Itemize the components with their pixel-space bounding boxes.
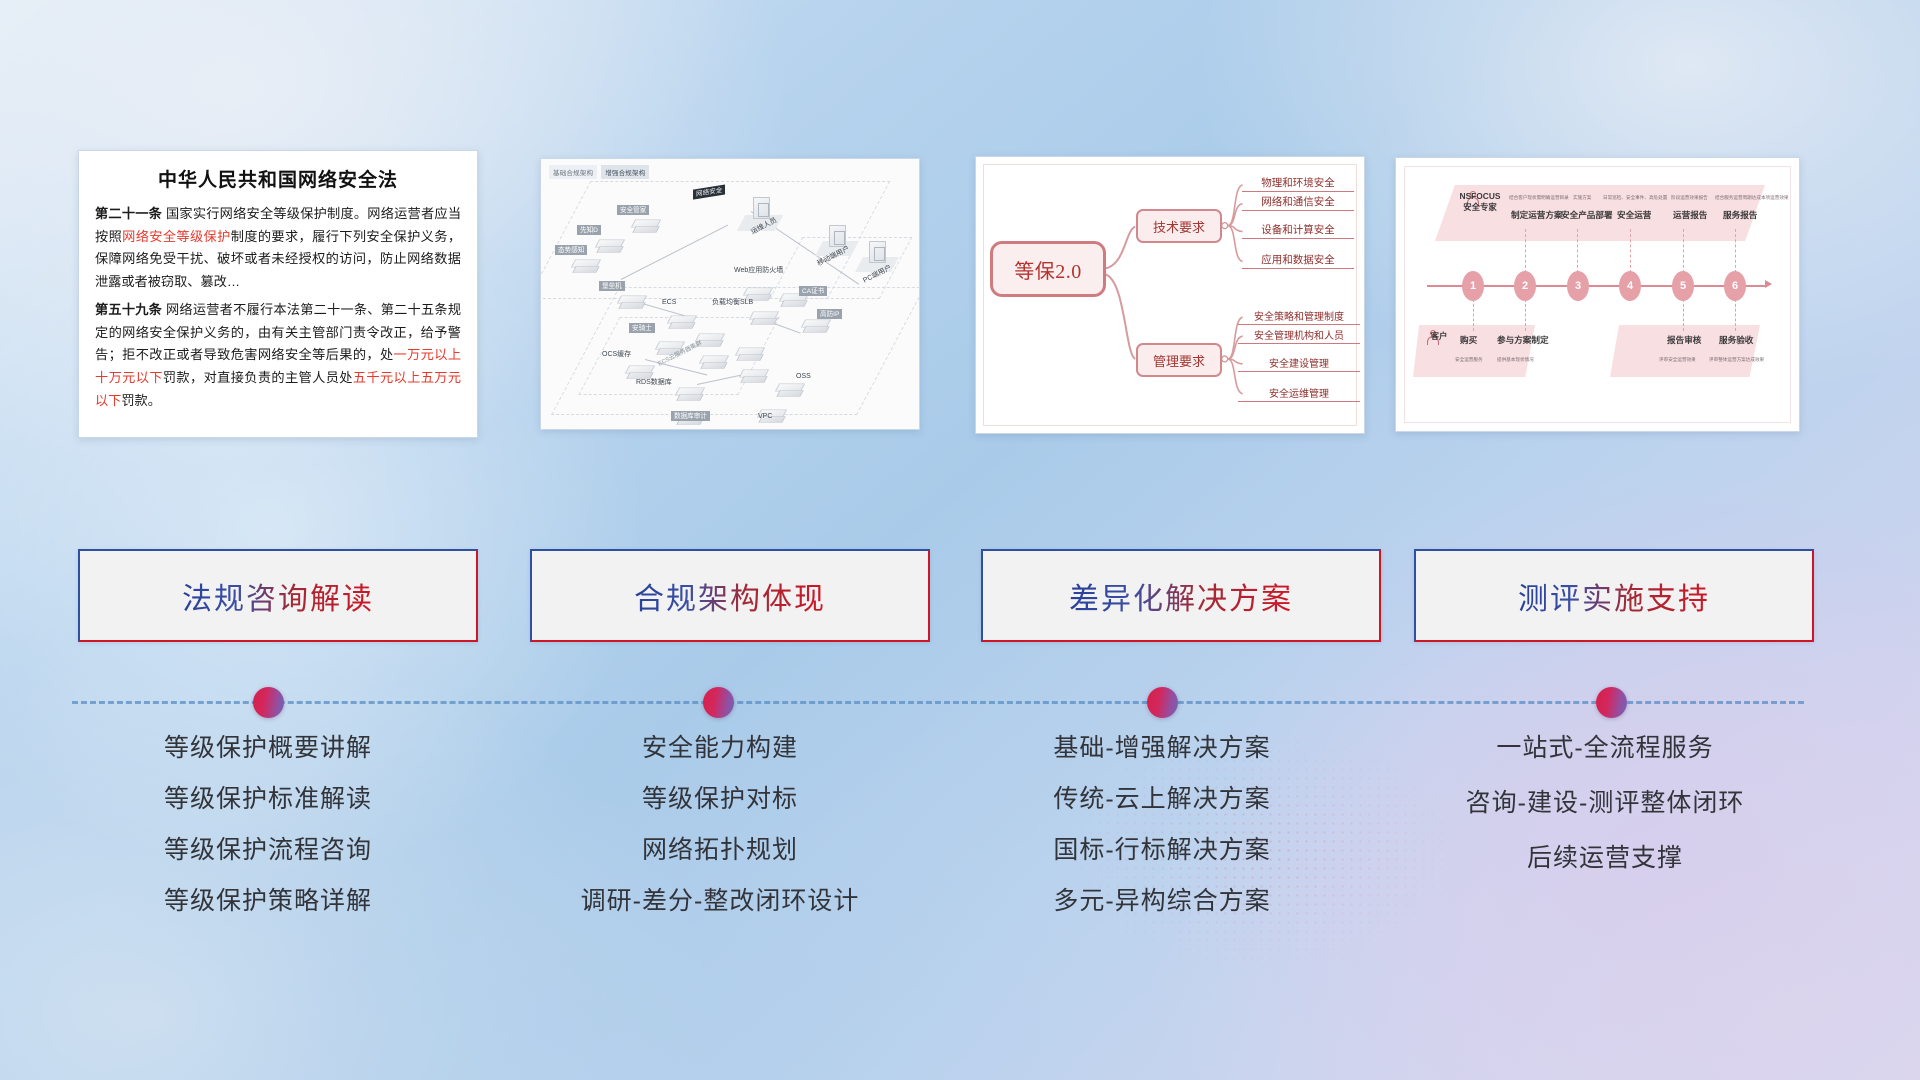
device-slb	[751, 309, 777, 327]
label-anti-ddos-ip: 高防IP	[817, 309, 842, 319]
card-mindmap-dengbao[interactable]: 等保2.0 技术要求 管理要求 物理和环境安全 网络和通信安全 设备和计算安全 …	[975, 156, 1365, 434]
list-item: 咨询-建设-测评整体闭环	[1395, 791, 1815, 816]
bottom-step-6-sub: 评审整体运营方案达成效果	[1709, 357, 1764, 363]
bullet-column-2: 安全能力构建 等级保护对标 网络拓扑规划 调研-差分-整改闭环设计	[510, 736, 930, 940]
law-paragraph-article-21: 第二十一条 国家实行网络安全等级保护制度。网络运营者应当按照网络安全等级保护制度…	[95, 203, 461, 294]
label-vpc: VPC	[755, 411, 775, 422]
architecture-tabs[interactable]: 基础合规架构 增强合规架构	[549, 165, 649, 179]
mindmap-leaf-device-compute[interactable]: 设备和计算安全	[1242, 222, 1354, 239]
device-situational-awareness	[573, 257, 599, 275]
list-item: 国标-行标解决方案	[952, 838, 1372, 863]
bottom-step-1-sub: 安全运营服务	[1455, 357, 1483, 363]
timeline-dashed-line	[72, 701, 1804, 704]
list-item: 一站式-全流程服务	[1395, 736, 1815, 761]
device-anti-ddos-ip	[803, 317, 829, 335]
label-box-3-text: 差异化解决方案	[1069, 574, 1293, 618]
connector-step-2-bottom	[1525, 299, 1526, 331]
card-nsfocus-service-timeline[interactable]: NSFOCUS 安全专家 结合客户现状需明确运营目录 制定运营方案 实施方案 安…	[1395, 157, 1800, 432]
mindmap-leaf-security-policy[interactable]: 安全策略和管理制度	[1238, 308, 1360, 325]
timeline-step-dot-6[interactable]: 6	[1724, 271, 1746, 301]
label-db-audit: 数据库审计	[671, 411, 710, 421]
list-item: 等级保护策略详解	[58, 889, 478, 914]
label-security-steward: 安全管家	[617, 205, 649, 215]
card-cybersecurity-law[interactable]: 中华人民共和国网络安全法 第二十一条 国家实行网络安全等级保护制度。网络运营者应…	[78, 150, 478, 438]
connector-step-5-bottom	[1683, 299, 1684, 331]
card-row: 中华人民共和国网络安全法 第二十一条 国家实行网络安全等级保护制度。网络运营者应…	[0, 150, 1920, 440]
top-step-3-sub: 实施方案	[1573, 195, 1591, 201]
mindmap-leaf-physical-env[interactable]: 物理和环境安全	[1242, 175, 1354, 192]
timeline-dot-1[interactable]	[253, 687, 284, 718]
list-item: 调研-差分-整改闭环设计	[510, 889, 930, 914]
label-box-4-text: 测评实施支持	[1518, 574, 1710, 618]
label-situational-awareness: 态势感知	[555, 245, 587, 255]
timeline-step-dot-2[interactable]: 2	[1514, 271, 1536, 301]
list-item: 等级保护对标	[510, 787, 930, 812]
law-card-title: 中华人民共和国网络安全法	[95, 165, 461, 192]
label-box-evaluation-support[interactable]: 测评实施支持	[1414, 549, 1814, 642]
label-ocs-cache: OCS缓存	[599, 349, 634, 360]
mindmap-leaf-security-ops[interactable]: 安全运维管理	[1238, 385, 1360, 402]
list-item: 网络拓扑规划	[510, 838, 930, 863]
bottom-step-2-sub: 提供基本现状情况	[1497, 357, 1534, 363]
connector-step-5-top	[1683, 229, 1684, 273]
list-item: 传统-云上解决方案	[952, 787, 1372, 812]
top-step-4-sub: 日常巡检、安全事件、高危处置	[1603, 195, 1667, 201]
tab-basic-compliance[interactable]: 基础合规架构	[549, 165, 597, 179]
icon-mobile-device	[829, 225, 846, 247]
list-item: 安全能力构建	[510, 736, 930, 761]
label-row: 法规咨询解读 合规架构体现 差异化解决方案 测评实施支持	[0, 549, 1920, 649]
nsfocus-brand-line1: NSFOCUS	[1460, 191, 1501, 201]
device-bastion-host	[619, 293, 645, 311]
timeline-step-dot-5[interactable]: 5	[1672, 271, 1694, 301]
label-ecs: ECS	[659, 297, 679, 308]
article-59-seg-4: 罚款。	[121, 393, 161, 408]
device-ecs-5	[741, 367, 767, 385]
connector-step-1-bottom	[1473, 299, 1474, 331]
label-oss: OSS	[793, 371, 814, 382]
top-step-2-title: 制定运营方案	[1511, 209, 1563, 221]
mindmap-leaf-security-build[interactable]: 安全建设管理	[1238, 355, 1360, 372]
article-59-seg-2: 罚款，对直接负责的主管人员处	[163, 370, 353, 385]
timeline-dot-4[interactable]	[1596, 687, 1627, 718]
top-step-6-sub: 结合服务运营周期达成本项运营效果	[1715, 195, 1789, 201]
label-anqishi: 安骑士	[629, 323, 655, 333]
device-oss	[777, 381, 803, 399]
timeline-step-dot-4[interactable]: 4	[1619, 271, 1641, 301]
mindmap-leaf-app-data[interactable]: 应用和数据安全	[1242, 252, 1354, 269]
law-paragraph-article-59: 第五十九条 网络运营者不履行本法第二十一条、第二十五条规定的网络安全保护义务的，…	[95, 299, 461, 413]
mindmap-root-node[interactable]: 等保2.0	[990, 241, 1106, 297]
mindmap-branch-technical[interactable]: 技术要求	[1136, 209, 1222, 243]
list-item: 多元-异构综合方案	[952, 889, 1372, 914]
bottom-step-6-title: 服务验收	[1719, 334, 1753, 346]
bottom-step-1-title: 购买	[1460, 334, 1477, 346]
card-compliance-architecture[interactable]: 基础合规架构 增强合规架构	[540, 158, 920, 430]
customer-label: 客户	[1421, 330, 1457, 342]
article-number-21: 第二十一条	[95, 206, 162, 221]
nsfocus-brand-line2: 安全专家	[1463, 202, 1497, 212]
label-waf: Web应用防火墙	[731, 265, 786, 276]
list-item: 等级保护概要讲解	[58, 736, 478, 761]
label-slb: 负载均衡SLB	[709, 297, 756, 308]
timeline-step-dot-1[interactable]: 1	[1462, 271, 1484, 301]
label-box-1-text: 法规咨询解读	[182, 574, 374, 618]
top-step-3-title: 安全产品部署	[1561, 209, 1613, 221]
mindmap-branch-management[interactable]: 管理要求	[1136, 343, 1222, 377]
label-ca-cert: CA证书	[799, 286, 827, 296]
connector-step-6-bottom	[1735, 299, 1736, 331]
label-xianzhi: 先知D	[577, 225, 601, 235]
article-number-59: 第五十九条	[95, 302, 162, 317]
nsfocus-brand-label: NSFOCUS 安全专家	[1451, 191, 1509, 212]
connector-step-6-top	[1735, 229, 1736, 273]
nsfocus-frame: NSFOCUS 安全专家 结合客户现状需明确运营目录 制定运营方案 实施方案 安…	[1404, 166, 1791, 423]
timeline-arrow-icon	[1765, 280, 1772, 288]
top-step-6-title: 服务报告	[1723, 209, 1757, 221]
label-box-2-text: 合规架构体现	[634, 574, 826, 618]
bullet-column-1: 等级保护概要讲解 等级保护标准解读 等级保护流程咨询 等级保护策略详解	[58, 736, 478, 940]
mindmap-leaf-network-comm[interactable]: 网络和通信安全	[1242, 194, 1354, 211]
device-ecs-4	[737, 345, 763, 363]
bottom-step-5-sub: 评审安全运营效果	[1659, 357, 1696, 363]
list-item: 等级保护流程咨询	[58, 838, 478, 863]
label-box-compliance-architecture[interactable]: 合规架构体现	[530, 549, 930, 642]
timeline-connector	[0, 681, 1920, 723]
device-rds	[677, 385, 703, 403]
tab-enhanced-compliance[interactable]: 增强合规架构	[601, 165, 649, 179]
top-step-5-title: 运营报告	[1673, 209, 1707, 221]
architecture-canvas: 网络安全 安全管家 先知D 态势感知 堡垒机 运维人员 移动端用户 PC端用户 …	[541, 159, 919, 429]
label-box-differentiated-solution[interactable]: 差异化解决方案	[981, 549, 1381, 642]
bullet-columns: 等级保护概要讲解 等级保护标准解读 等级保护流程咨询 等级保护策略详解 安全能力…	[0, 736, 1920, 976]
list-item: 基础-增强解决方案	[952, 736, 1372, 761]
label-box-regulation-consulting[interactable]: 法规咨询解读	[78, 549, 478, 642]
mindmap-leaf-security-org[interactable]: 安全管理机构和人员	[1238, 327, 1360, 344]
timeline-dot-2[interactable]	[703, 687, 734, 718]
timeline-dot-3[interactable]	[1147, 687, 1178, 718]
timeline-step-dot-3[interactable]: 3	[1567, 271, 1589, 301]
article-21-seg-1-highlight: 网络安全等级保护	[122, 229, 231, 244]
list-item: 等级保护标准解读	[58, 787, 478, 812]
connector-step-4-top	[1630, 229, 1631, 273]
label-rds: RDS数据库	[633, 377, 675, 388]
top-step-2-sub: 结合客户现状需明确运营目录	[1509, 195, 1569, 201]
list-item: 后续运营支撑	[1395, 846, 1815, 871]
nsfocus-customer-band-right	[1610, 325, 1760, 377]
device-ecs-3	[701, 353, 727, 371]
bullet-column-3: 基础-增强解决方案 传统-云上解决方案 国标-行标解决方案 多元-异构综合方案	[952, 736, 1372, 940]
device-ecs	[669, 313, 695, 331]
bottom-step-5-title: 报告审核	[1667, 334, 1701, 346]
bottom-step-2-title: 参与方案制定	[1497, 334, 1549, 346]
connector-step-3-top	[1577, 229, 1578, 273]
connector-step-2-top	[1525, 229, 1526, 273]
bullet-column-4: 一站式-全流程服务 咨询-建设-测评整体闭环 后续运营支撑	[1395, 736, 1815, 901]
icon-pc-device	[869, 241, 886, 263]
device-security-steward	[633, 217, 659, 235]
label-bastion-host: 堡垒机	[599, 281, 625, 291]
device-xianzhi	[597, 237, 623, 255]
top-step-4-title: 安全运营	[1617, 209, 1651, 221]
top-step-5-sub: 阶段运营效果报告	[1671, 195, 1708, 201]
icon-ops-person	[753, 197, 770, 219]
